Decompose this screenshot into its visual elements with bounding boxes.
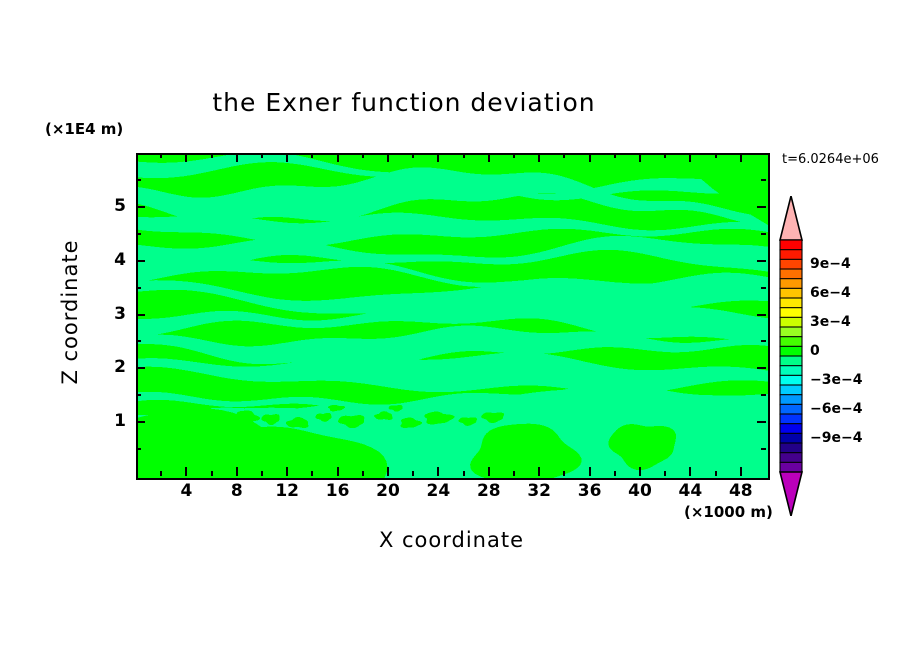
y-tick-min — [136, 394, 141, 396]
y-tick-maj — [136, 260, 145, 262]
y-tick-label: 2 — [86, 357, 126, 377]
x-tick-min — [463, 471, 465, 476]
x-tick-maj — [538, 467, 540, 476]
colorbar-label: −6e−4 — [810, 401, 862, 417]
x-tick-maj — [589, 467, 591, 476]
y-tick-maj-right — [757, 314, 766, 316]
x-tick-maj — [286, 467, 288, 476]
x-tick-min-top — [664, 153, 666, 158]
figure-canvas: the Exner function deviation (×1E4 m) t=… — [0, 0, 904, 654]
colorbar — [779, 196, 803, 516]
x-tick-maj — [437, 467, 439, 476]
x-tick-maj-top — [236, 153, 238, 162]
y-tick-maj-right — [757, 367, 766, 369]
x-tick-min — [715, 471, 717, 476]
y-tick-maj-right — [757, 206, 766, 208]
y-axis-unit-label: (×1E4 m) — [45, 120, 123, 138]
colorbar-label: 0 — [810, 343, 820, 359]
x-tick-maj-top — [185, 153, 187, 162]
y-tick-label: 3 — [86, 304, 126, 324]
y-tick-min-right — [761, 340, 766, 342]
y-tick-min-right — [761, 394, 766, 396]
x-tick-min-top — [362, 153, 364, 158]
y-tick-min — [136, 340, 141, 342]
x-tick-maj-top — [488, 153, 490, 162]
y-tick-min — [136, 448, 141, 450]
y-tick-label: 4 — [86, 250, 126, 270]
x-tick-min-top — [563, 153, 565, 158]
x-axis-title: X coordinate — [279, 528, 624, 552]
x-tick-maj-top — [538, 153, 540, 162]
x-tick-min — [211, 471, 213, 476]
x-tick-min — [311, 471, 313, 476]
y-tick-min-right — [761, 179, 766, 181]
y-axis-title: Z coordinate — [58, 182, 82, 442]
x-tick-maj-top — [337, 153, 339, 162]
x-tick-min — [412, 471, 414, 476]
x-tick-min-top — [211, 153, 213, 158]
x-tick-maj-top — [437, 153, 439, 162]
x-tick-label: 48 — [711, 481, 771, 501]
y-tick-min — [136, 179, 141, 181]
y-tick-min-right — [761, 287, 766, 289]
x-tick-min — [563, 471, 565, 476]
y-tick-maj — [136, 314, 145, 316]
colorbar-label: 9e−4 — [810, 256, 851, 272]
x-axis-unit-label: (×1000 m) — [684, 503, 773, 521]
x-tick-maj-top — [740, 153, 742, 162]
x-tick-min-top — [160, 153, 162, 158]
x-tick-min-top — [463, 153, 465, 158]
x-tick-min-top — [412, 153, 414, 158]
y-tick-maj — [136, 206, 145, 208]
y-tick-min — [136, 287, 141, 289]
colorbar-label: −3e−4 — [810, 372, 862, 388]
y-tick-min-right — [761, 233, 766, 235]
x-tick-min — [261, 471, 263, 476]
x-tick-maj — [185, 467, 187, 476]
x-tick-maj — [387, 467, 389, 476]
x-tick-maj-top — [387, 153, 389, 162]
colorbar-swatches — [779, 196, 803, 516]
page-title: the Exner function deviation — [0, 88, 856, 117]
x-tick-min-top — [715, 153, 717, 158]
x-tick-min-top — [513, 153, 515, 158]
contour-field — [138, 155, 768, 478]
x-tick-maj-top — [589, 153, 591, 162]
y-tick-min — [136, 233, 141, 235]
x-tick-min — [513, 471, 515, 476]
contour-plot-area — [136, 153, 770, 480]
x-tick-min-top — [614, 153, 616, 158]
x-tick-maj — [639, 467, 641, 476]
y-tick-maj — [136, 421, 145, 423]
y-tick-maj-right — [757, 421, 766, 423]
y-tick-maj — [136, 367, 145, 369]
colorbar-label: 3e−4 — [810, 314, 851, 330]
colorbar-label: −9e−4 — [810, 430, 862, 446]
time-annotation: t=6.0264e+06 — [782, 152, 879, 167]
x-tick-min-top — [261, 153, 263, 158]
y-tick-maj-right — [757, 260, 766, 262]
x-tick-min-top — [311, 153, 313, 158]
x-tick-maj — [488, 467, 490, 476]
x-tick-min — [614, 471, 616, 476]
x-tick-maj — [740, 467, 742, 476]
x-tick-maj-top — [286, 153, 288, 162]
x-tick-min — [160, 471, 162, 476]
y-tick-min-right — [761, 448, 766, 450]
y-tick-label: 1 — [86, 411, 126, 431]
x-tick-min — [362, 471, 364, 476]
y-tick-label: 5 — [86, 196, 126, 216]
x-tick-min — [664, 471, 666, 476]
x-tick-maj — [689, 467, 691, 476]
x-tick-maj-top — [639, 153, 641, 162]
x-tick-maj — [236, 467, 238, 476]
colorbar-label: 6e−4 — [810, 285, 851, 301]
x-tick-maj-top — [689, 153, 691, 162]
x-tick-maj — [337, 467, 339, 476]
